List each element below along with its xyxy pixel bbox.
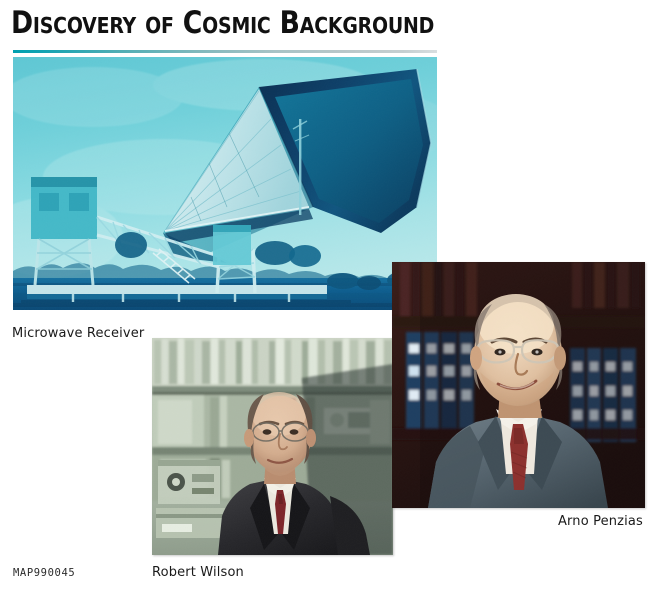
map-identifier: MAP990045 [13,567,75,579]
arno-penzias-photo [392,262,645,508]
title-accent-rule [13,50,437,53]
robert-wilson-photo [152,338,393,555]
caption-arno-penzias: Arno Penzias [558,514,643,530]
caption-microwave-receiver: Microwave Receiver [12,326,144,342]
caption-robert-wilson: Robert Wilson [152,565,244,581]
page-title: Discovery of Cosmic Background [11,2,627,44]
microwave-receiver-photo [13,57,437,310]
